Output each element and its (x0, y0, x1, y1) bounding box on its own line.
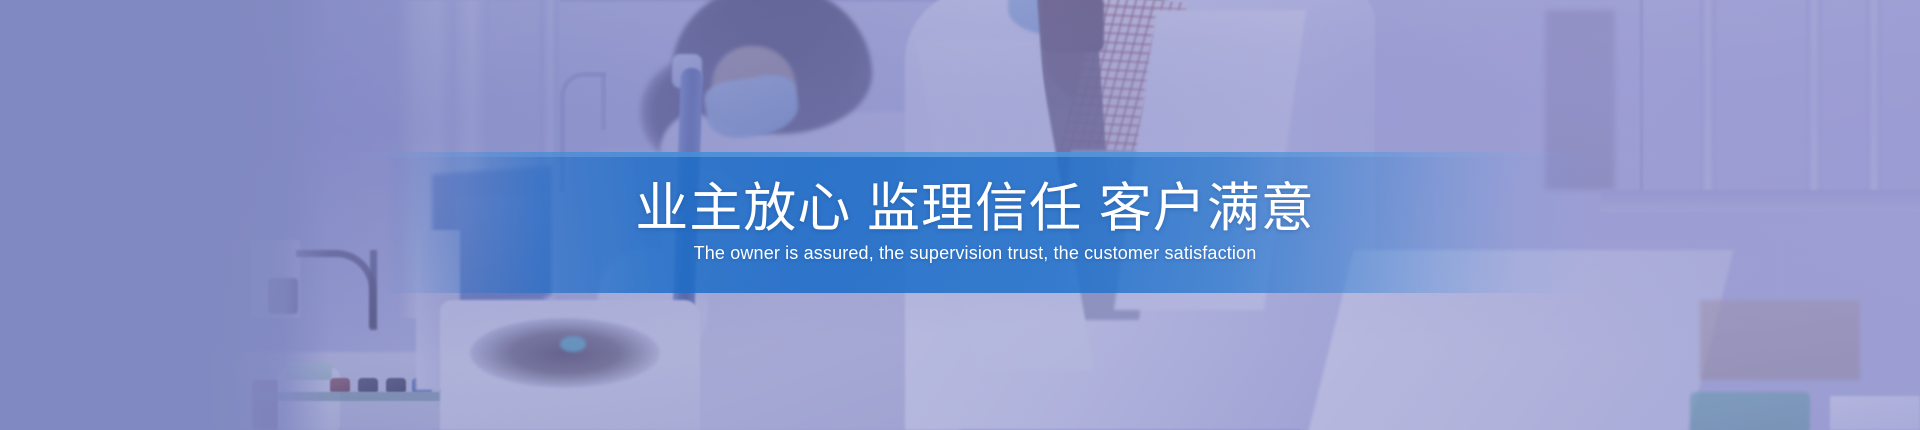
hero-banner: 业主放心 监理信任 客户满意 The owner is assured, the… (0, 0, 1920, 430)
banner-text-block: 业主放心 监理信任 客户满意 The owner is assured, the… (0, 152, 1920, 293)
banner-headline: 业主放心 监理信任 客户满意 (605, 180, 1314, 237)
banner-subheadline: The owner is assured, the supervision tr… (664, 243, 1257, 265)
